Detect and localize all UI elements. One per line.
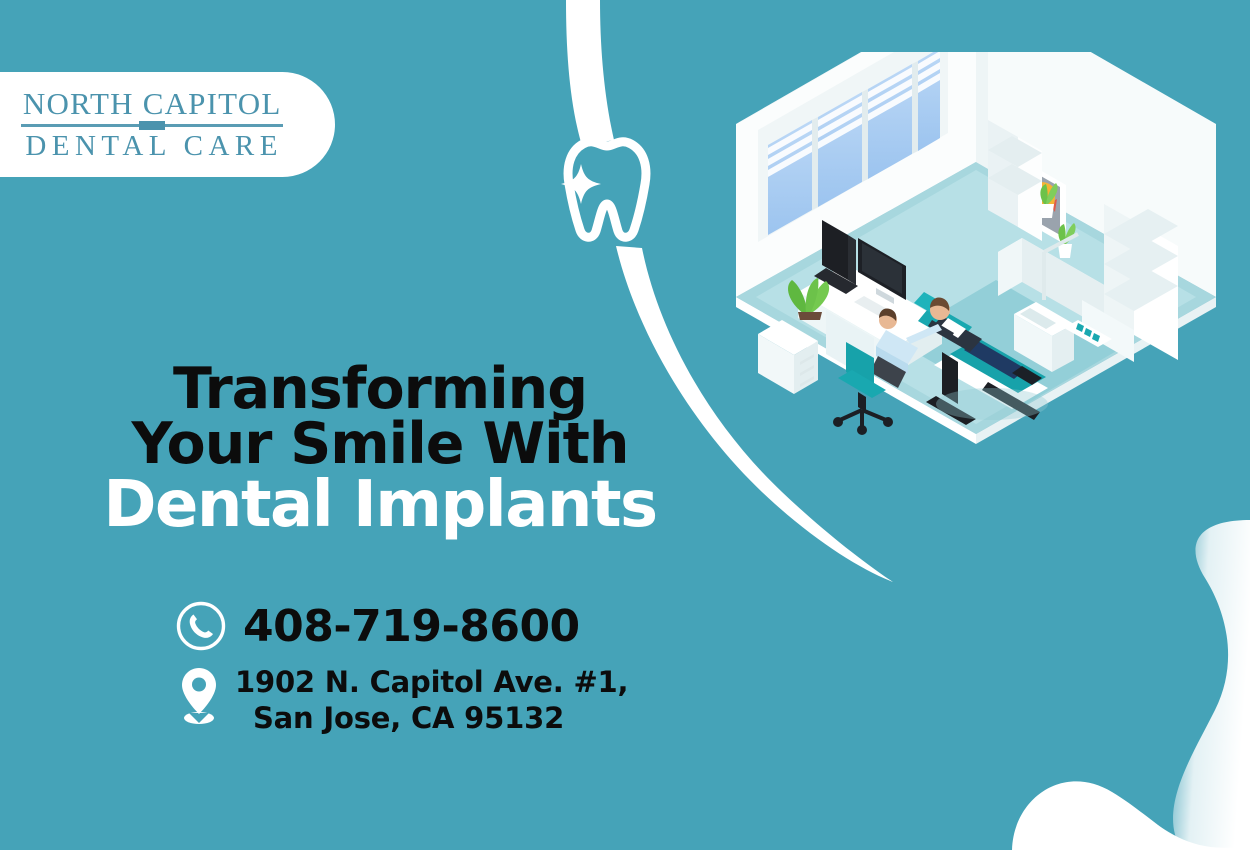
- address-line-1: 1902 N. Capitol Ave. #1,: [235, 664, 628, 700]
- headline-block: Transforming Your Smile With Dental Impl…: [60, 362, 700, 536]
- isometric-dental-office-illustration: [726, 52, 1236, 457]
- map-pin-icon[interactable]: [177, 664, 221, 726]
- contact-block: 408-719-8600 1902 N. Capitol Ave. #1, Sa…: [175, 600, 795, 737]
- phone-number[interactable]: 408-719-8600: [243, 601, 580, 652]
- phone-handset-glyph: [190, 615, 213, 638]
- tooth-icon-svg: [552, 122, 662, 247]
- phone-row[interactable]: 408-719-8600: [175, 600, 795, 652]
- logo-pill[interactable]: NORTH CAPITOL DENTAL CARE: [0, 72, 335, 177]
- logo-divider-rule: [21, 124, 283, 127]
- phone-icon-ring: [179, 604, 224, 649]
- chair-floor-shadow: [936, 388, 1048, 420]
- advertisement-canvas: NORTH CAPITOL DENTAL CARE Transforming Y…: [0, 0, 1250, 850]
- office-chair-back-side: [848, 235, 856, 285]
- address-text: 1902 N. Capitol Ave. #1, San Jose, CA 95…: [235, 664, 628, 737]
- phone-in-circle-icon[interactable]: [175, 600, 227, 652]
- tooth-with-sparkle-icon: [552, 122, 662, 247]
- right-wall-shade: [976, 52, 988, 169]
- headline-line-2: Your Smile With: [60, 417, 700, 472]
- logo-line-north-capitol: NORTH CAPITOL: [21, 88, 283, 121]
- dental-office-svg: [726, 52, 1236, 452]
- address-line-2: San Jose, CA 95132: [235, 700, 628, 736]
- logo-divider-dot: [139, 121, 165, 130]
- headline-line-1: Transforming: [60, 362, 700, 417]
- logo-text-block: NORTH CAPITOL DENTAL CARE: [21, 88, 283, 161]
- address-row[interactable]: 1902 N. Capitol Ave. #1, San Jose, CA 95…: [175, 664, 795, 737]
- logo-line-dental-care: DENTAL CARE: [21, 131, 283, 161]
- map-pin-hole: [192, 678, 206, 692]
- headline-line-3: Dental Implants: [60, 474, 700, 536]
